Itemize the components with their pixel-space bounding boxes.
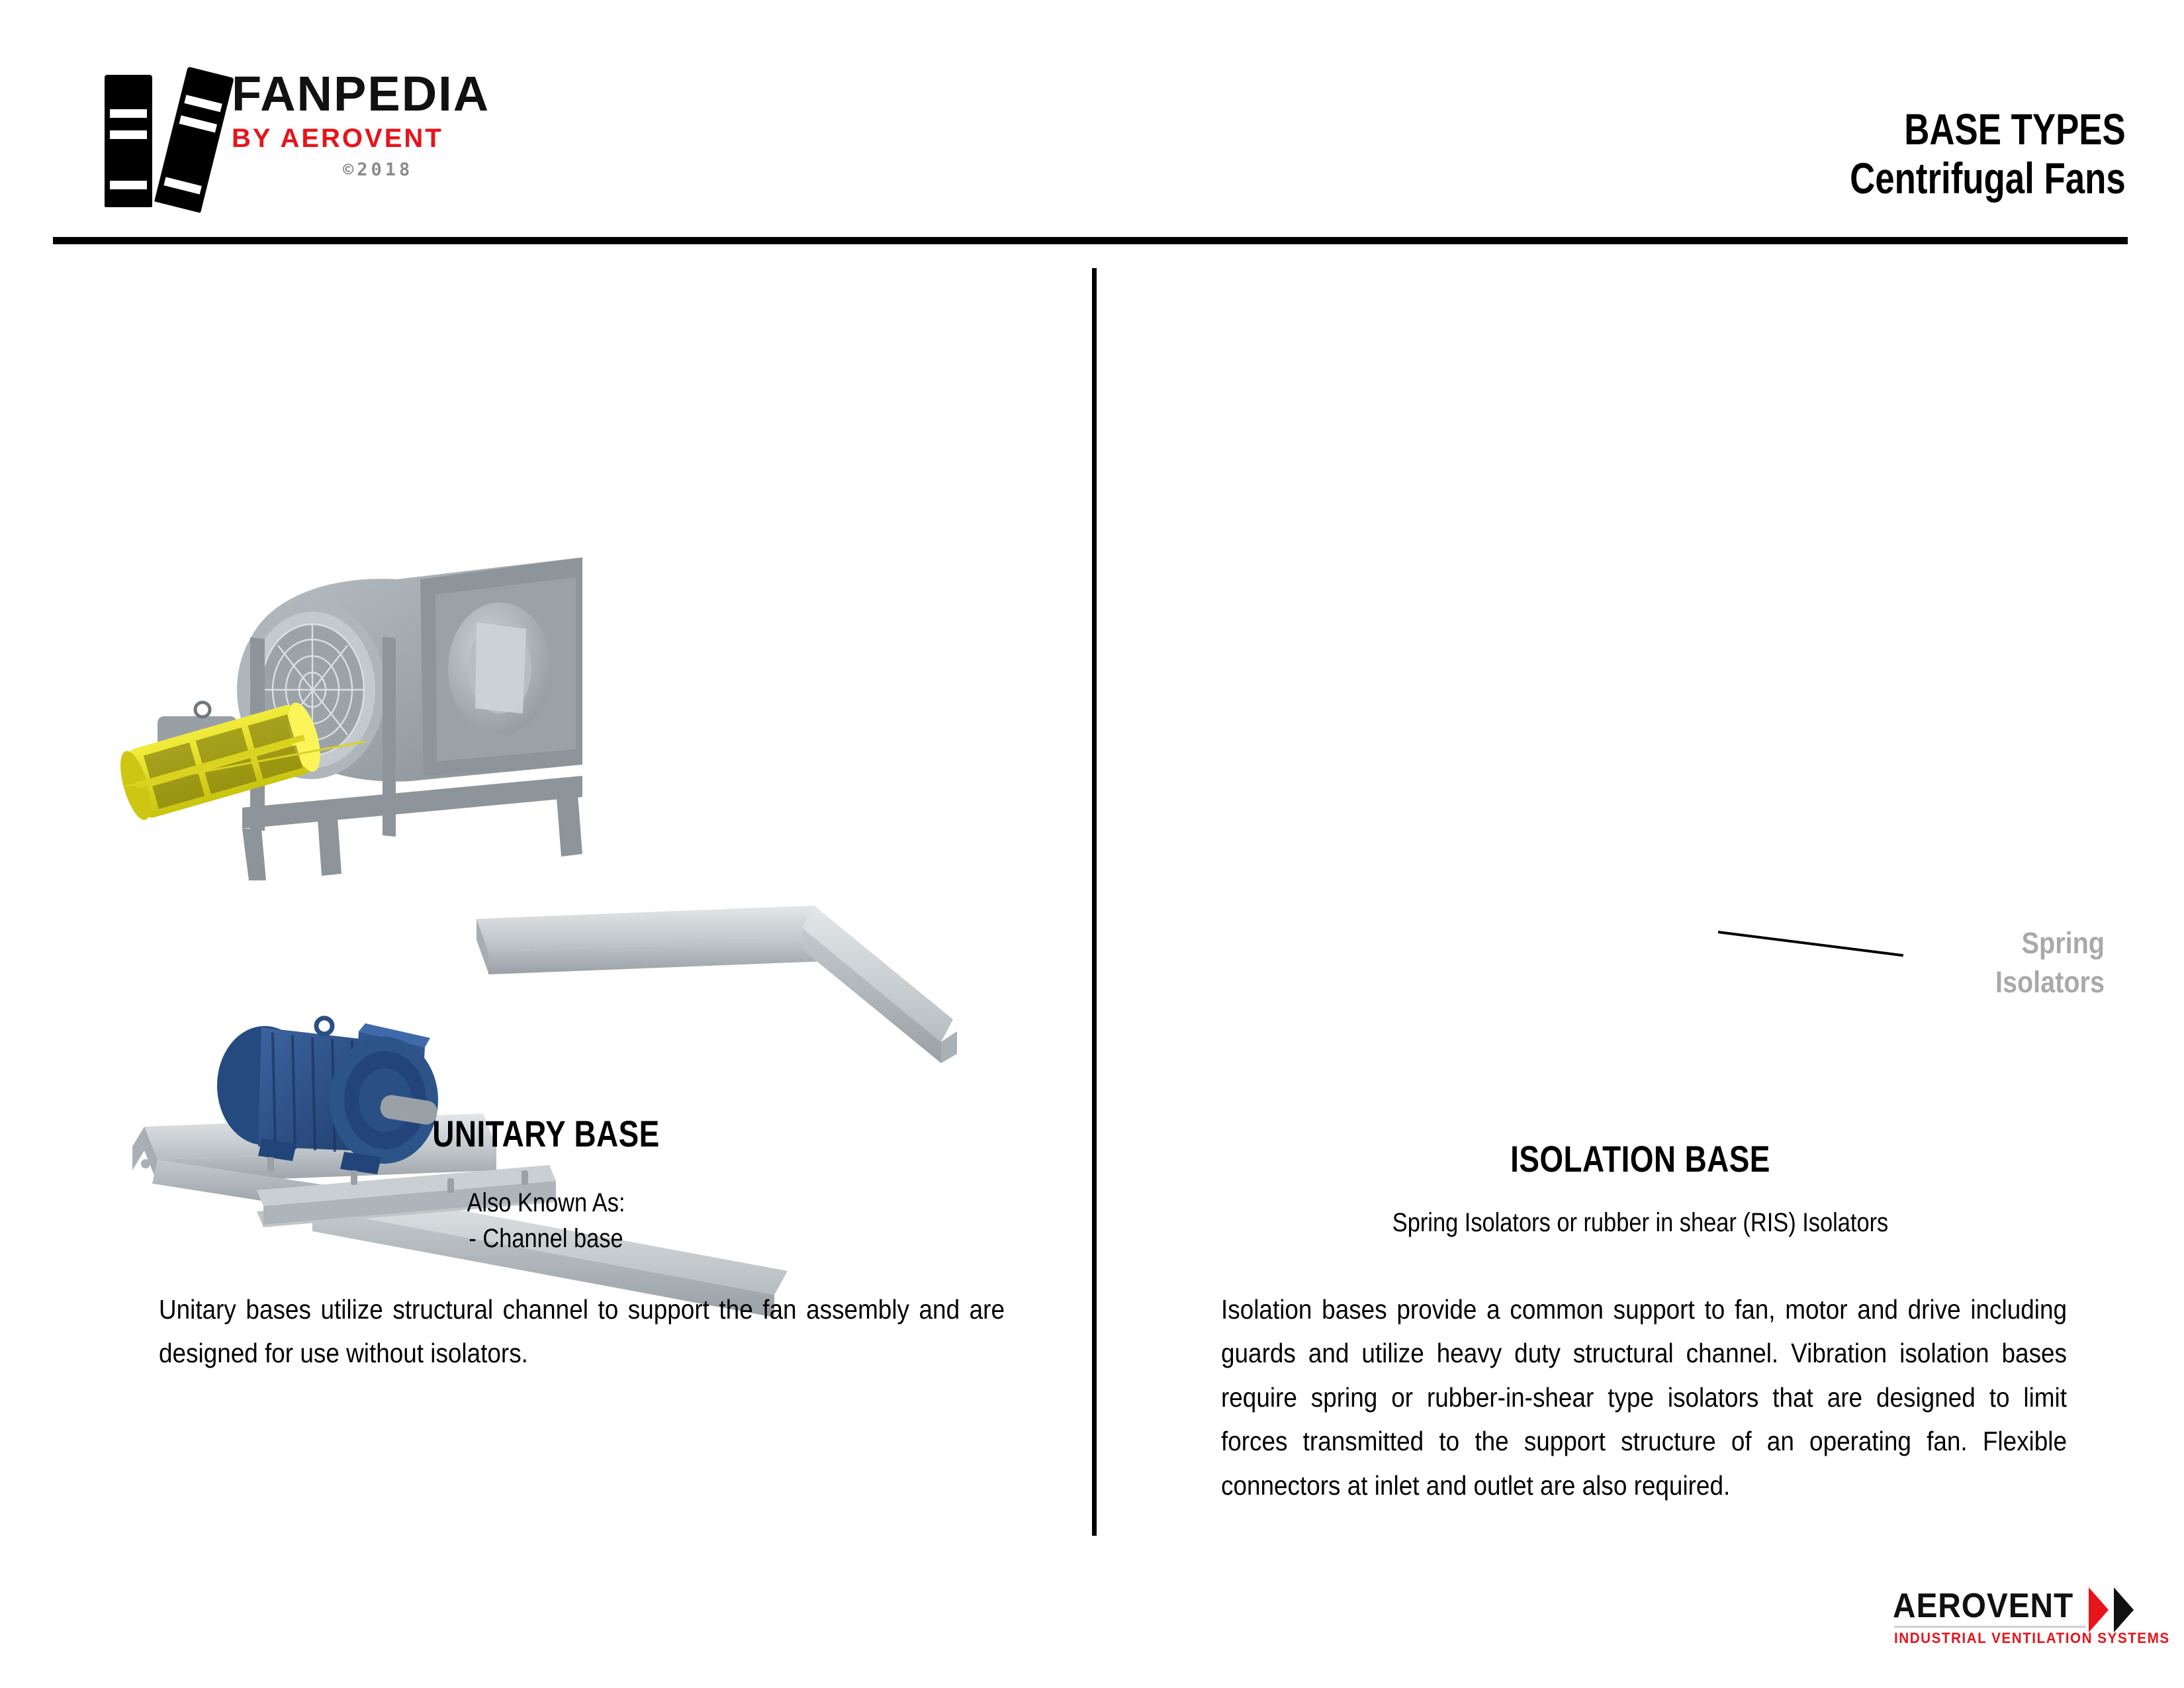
column-divider-rule [1092,268,1097,1536]
aka-label: Also Known As: [77,1185,1016,1221]
chevron-black-icon [2114,1587,2134,1632]
spring-isolators-callout: Spring Isolators [1918,923,2105,1002]
unitary-base-paragraph: Unitary bases utilize structural channel… [159,1288,1005,1376]
book-spine-upright [105,75,152,207]
unitary-base-title: UNITARY BASE [99,1112,994,1155]
aerovent-brand-name: AEROVENT [1893,1586,2073,1626]
copyright-notice: ©2018 [343,161,576,179]
brand-byline: BY AEROVENT [232,125,576,152]
aka-item: - Channel base [77,1221,1016,1256]
book-spine-tilted [154,67,234,213]
centrifugal-fan-unitary-illustration [119,543,622,900]
aerovent-footer-logo: AEROVENT INDUSTRIAL VENTILATION SYSTEMS [1893,1582,2158,1662]
fanpedia-logo: FANPEDIA BY AEROVENT ©2018 [93,63,556,228]
page-title: BASE TYPES Centrifugal Fans [1781,106,2126,203]
isolation-base-paragraph: Isolation bases provide a common support… [1221,1288,2067,1507]
callout-line-2: Isolators [1918,962,2105,1002]
isolation-base-subtitle: Spring Isolators or rubber in shear (RIS… [1173,1205,2108,1241]
page-title-primary: BASE TYPES [1850,106,2126,153]
books-icon [93,63,225,209]
aerovent-logo-rule [1894,1626,2086,1628]
fanpedia-wordmark: FANPEDIA BY AEROVENT ©2018 [232,70,576,179]
chevron-red-icon [2089,1587,2109,1632]
header-divider-rule [53,237,2128,244]
unitary-base-aka: Also Known As: - Channel base [0,1185,1092,1256]
isolation-base-title: ISOLATION BASE [1195,1137,2086,1180]
page-title-secondary: Centrifugal Fans [1850,154,2126,203]
page-header: FANPEDIA BY AEROVENT ©2018 BASE TYPES Ce… [0,0,2184,252]
brand-name: FANPEDIA [232,70,576,118]
callout-leader-line [1718,931,1903,957]
callout-line-1: Spring [1918,923,2105,962]
